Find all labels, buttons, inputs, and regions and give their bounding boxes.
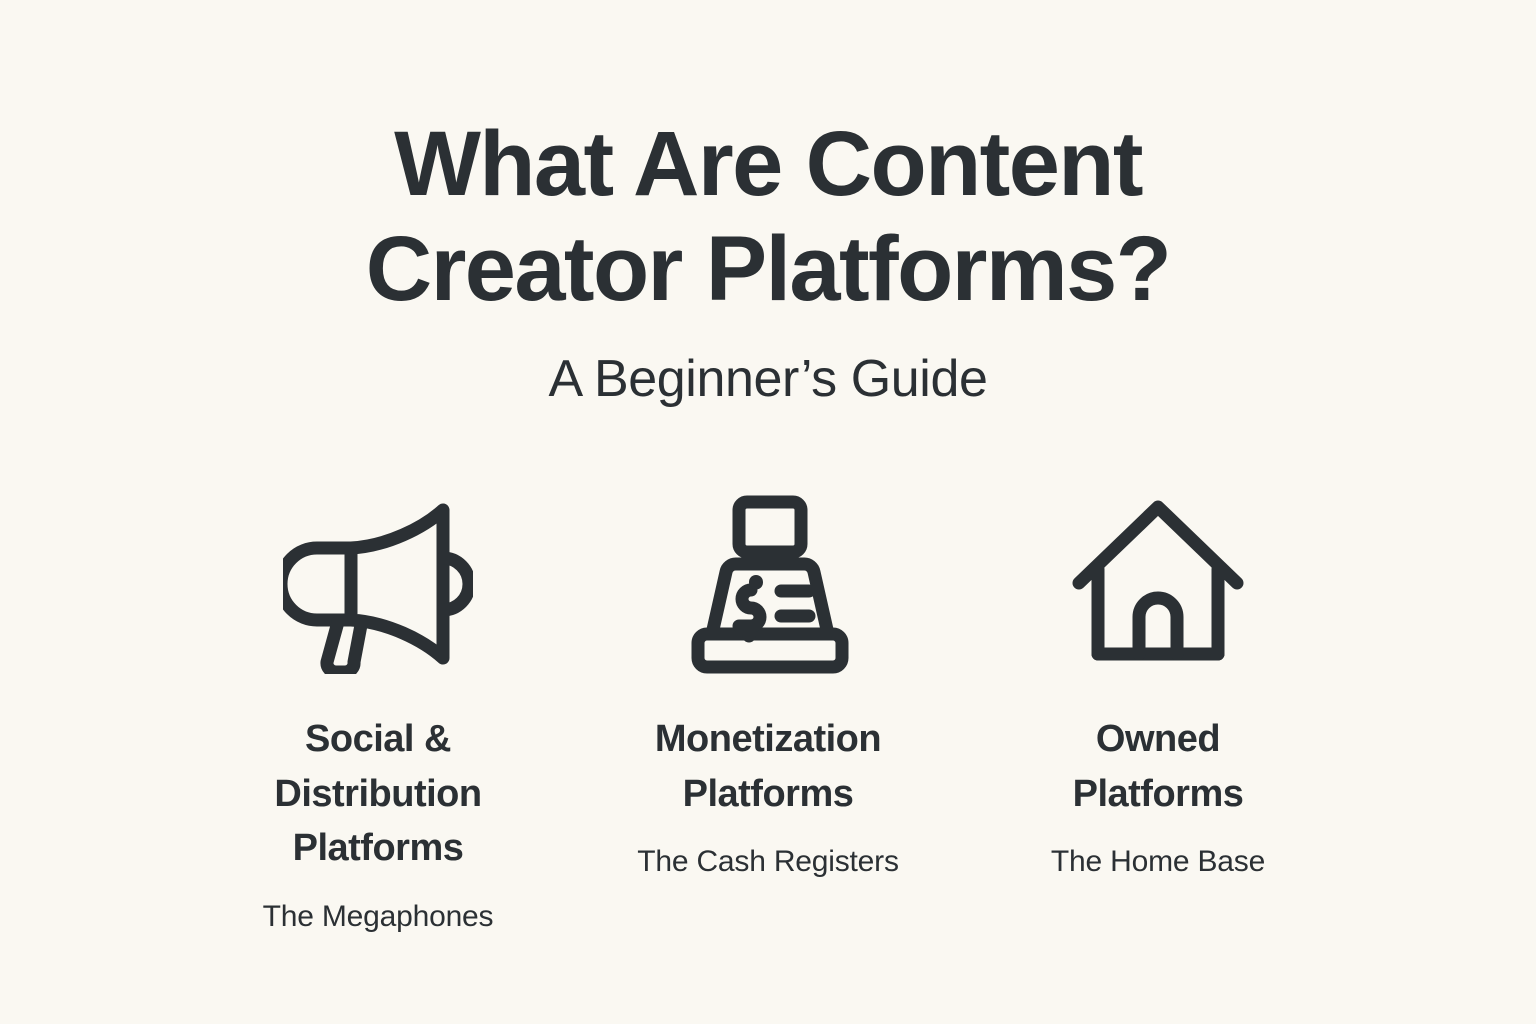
category-heading-line-1: Social & — [274, 712, 481, 767]
category-caption: The Megaphones — [263, 898, 494, 936]
page-title-line-1: What Are Content — [200, 112, 1336, 217]
category-columns: Social & Distribution Platforms The Mega… — [0, 484, 1536, 936]
category-heading: Social & Distribution Platforms — [274, 712, 481, 876]
page-title-line-2: Creator Platforms? — [200, 217, 1336, 322]
header-block: What Are Content Creator Platforms? A Be… — [0, 112, 1536, 410]
category-heading-line-3: Platforms — [274, 821, 481, 876]
cash-register-icon — [678, 484, 858, 684]
category-heading-line-1: Owned — [1073, 712, 1244, 767]
page-subtitle: A Beginner’s Guide — [0, 348, 1536, 410]
category-heading-line-2: Distribution — [274, 767, 481, 822]
megaphone-icon — [283, 484, 473, 684]
category-caption: The Cash Registers — [637, 843, 899, 881]
category-heading-line-1: Monetization — [655, 712, 881, 767]
house-icon — [1071, 484, 1246, 684]
category-column-owned: Owned Platforms The Home Base — [963, 484, 1353, 881]
page-title: What Are Content Creator Platforms? — [0, 112, 1536, 322]
category-heading: Monetization Platforms — [655, 712, 881, 821]
category-heading: Owned Platforms — [1073, 712, 1244, 821]
category-heading-line-2: Platforms — [1073, 767, 1244, 822]
category-column-monetization: Monetization Platforms The Cash Register… — [573, 484, 963, 881]
category-column-social-distribution: Social & Distribution Platforms The Mega… — [183, 484, 573, 936]
category-heading-line-2: Platforms — [655, 767, 881, 822]
poster-canvas: What Are Content Creator Platforms? A Be… — [0, 0, 1536, 1024]
category-caption: The Home Base — [1051, 843, 1265, 881]
